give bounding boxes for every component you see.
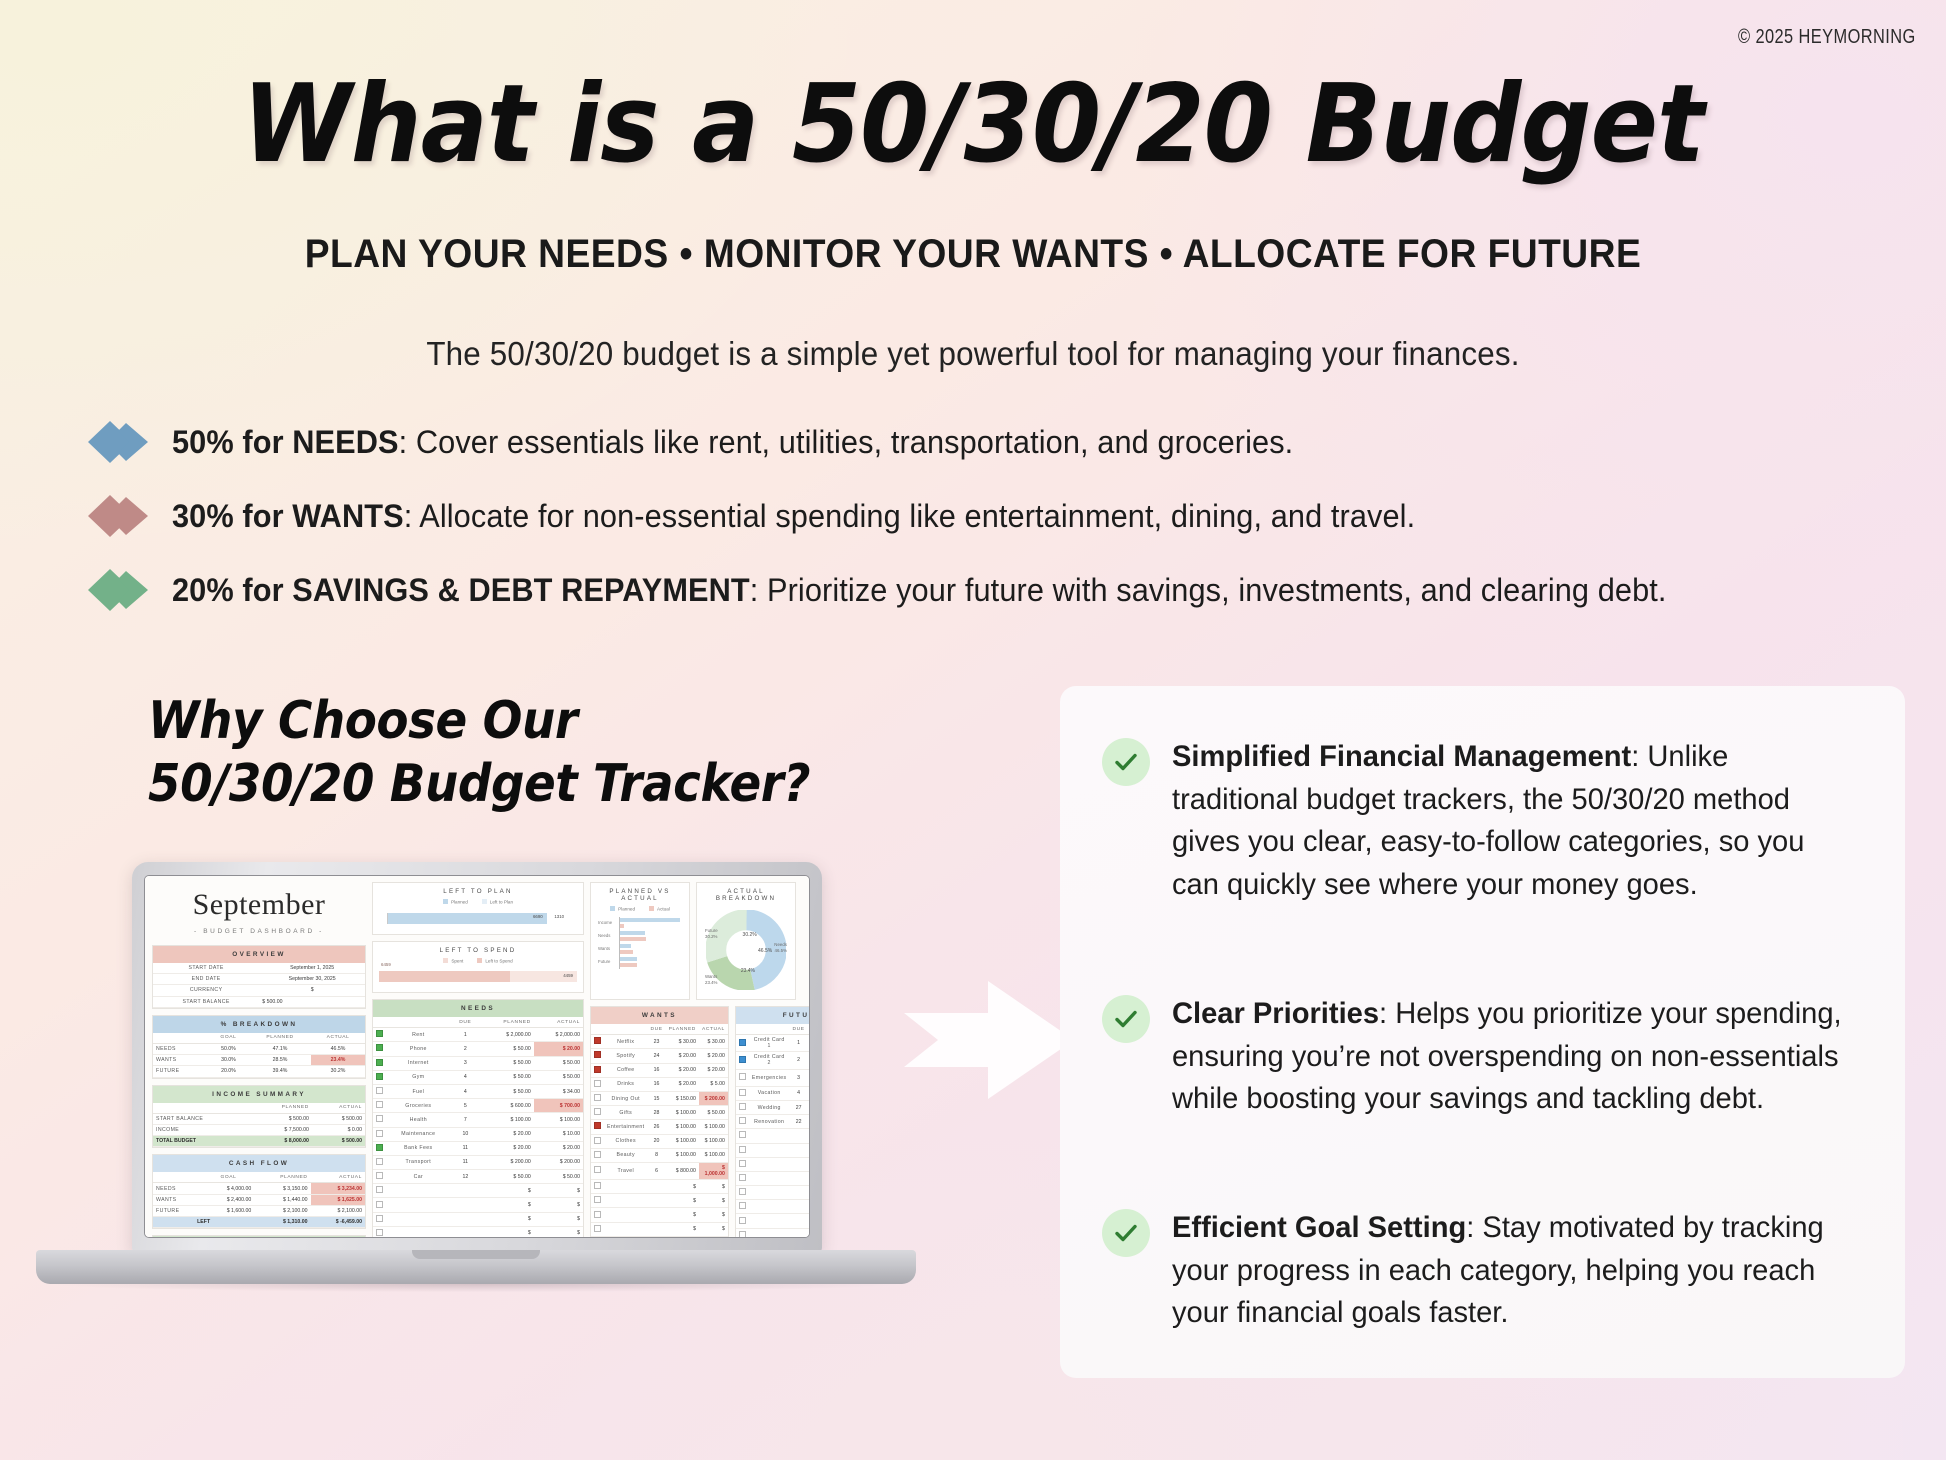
col-header: ACTUAL (312, 1103, 365, 1114)
cell: Netflix (604, 1035, 648, 1049)
table-row[interactable]: Drinks16$ 20.00$ 5.00 (591, 1077, 728, 1091)
table-header-row: GOAL PLANNED ACTUAL (153, 1033, 365, 1044)
chart-title: LEFT TO SPEND (379, 947, 577, 958)
row-checkbox[interactable] (594, 1037, 601, 1044)
cell: 30.0% (208, 1055, 249, 1066)
cell: 16 (648, 1077, 666, 1091)
table-row[interactable]: $$ (736, 1129, 810, 1143)
cell: Groceries (386, 1099, 451, 1113)
row-checkbox[interactable] (739, 1089, 746, 1096)
cell: 1 (451, 1028, 480, 1042)
benefit-text: Clear Priorities: Helps you prioritize y… (1172, 993, 1842, 1121)
overview-panel: OVERVIEW START DATESeptember 1, 2025 END… (152, 945, 366, 1009)
cell: $ 1,000.00 (808, 1069, 810, 1086)
table-row[interactable]: Rent1$ 2,000.00$ 2,000.00 (373, 1028, 583, 1042)
cell: $ 1,310.00 (254, 1217, 310, 1228)
cell: 26 (648, 1120, 666, 1134)
list-item-bold: 50% for NEEDS (172, 424, 399, 460)
row-checkbox[interactable] (376, 1158, 383, 1165)
benefit-item: Simplified Financial Management: Unlike … (1102, 736, 1863, 906)
cell: 2 (451, 1042, 480, 1056)
benefit-title: Simplified Financial Management (1172, 740, 1631, 773)
row-checkbox[interactable] (594, 1151, 601, 1158)
table-row[interactable]: $$ (736, 1186, 810, 1200)
cell: Fuel (386, 1084, 451, 1098)
cell: $ 500.00 (312, 1113, 365, 1124)
bar-row: Needs (620, 930, 683, 943)
laptop-mockup: September - BUDGET DASHBOARD - OVERVIEW … (36, 862, 916, 1362)
cell: Drinks (604, 1077, 648, 1091)
breakdown-table: GOAL PLANNED ACTUAL NEEDS50.0%47.1%46.5%… (153, 1033, 365, 1078)
benefit-title: Clear Priorities (1172, 997, 1379, 1030)
cell: $ 500.00 (259, 996, 365, 1007)
row-checkbox[interactable] (376, 1172, 383, 1179)
table-row[interactable]: Dining Out15$ 150.00$ 200.00 (591, 1091, 728, 1105)
cell: $ 3,150.00 (254, 1183, 310, 1194)
cell: Gifts (604, 1106, 648, 1120)
row-checkbox[interactable] (376, 1044, 383, 1051)
table-row[interactable]: $$ (591, 1236, 728, 1238)
legend-label: Actual (657, 907, 670, 912)
cell: 20.0% (208, 1066, 249, 1077)
cell: $ 200.00 (808, 1052, 810, 1069)
bar-track: 6690 1310 (387, 913, 577, 924)
bar-label: Needs (598, 933, 610, 938)
cell: $ 50.00 (534, 1170, 583, 1184)
table-row[interactable]: Health7$ 100.00$ 100.00 (373, 1113, 583, 1127)
laptop-screen: September - BUDGET DASHBOARD - OVERVIEW … (144, 875, 810, 1238)
cell: Entertainment (604, 1120, 648, 1134)
benefit-item: Efficient Goal Setting: Stay motivated b… (1102, 1207, 1863, 1335)
table-row[interactable]: Netflix23$ 30.00$ 30.00 (591, 1035, 728, 1049)
cell: 8 (648, 1148, 666, 1162)
cell: 10 (451, 1127, 480, 1141)
benefits-card: Simplified Financial Management: Unlike … (1060, 686, 1905, 1378)
cell: $ 50.00 (699, 1106, 728, 1120)
col-header: ACTUAL (699, 1024, 728, 1035)
cell: 47.1% (249, 1043, 311, 1054)
table-row[interactable]: Entertainment26$ 100.00$ 100.00 (591, 1120, 728, 1134)
table-row[interactable]: Credit Card 11$ 500.00$ 500.00 (736, 1035, 810, 1052)
col-header: PLANNED (480, 1017, 534, 1028)
table-row[interactable]: Vacation4$ 200.00$ 200.00 (736, 1086, 810, 1100)
table-row[interactable]: $$ (373, 1198, 583, 1212)
table-row[interactable]: $$ (373, 1212, 583, 1226)
cell: September 1, 2025 (259, 963, 365, 974)
chart-legend: Spent Left to Spend (379, 958, 577, 969)
row-checkbox[interactable] (594, 1108, 601, 1115)
table-row[interactable]: Groceries5$ 600.00$ 700.00 (373, 1099, 583, 1113)
cell: Bank Fees (386, 1141, 451, 1155)
cell: NEEDS (153, 1183, 203, 1194)
bar-value-outside: 1310 (554, 914, 564, 919)
col-header: PLANNED (254, 1172, 310, 1183)
list-item-text: 30% for WANTS: Allocate for non-essentia… (172, 498, 1415, 535)
overview-title: OVERVIEW (153, 946, 365, 963)
table-row: NEEDS$ 4,000.00$ 3,150.00$ 3,234.00 (153, 1183, 365, 1194)
col-header: PLANNED (666, 1024, 699, 1035)
cell: 30.2% (311, 1066, 365, 1077)
cell: $ 50.00 (480, 1170, 534, 1184)
cell: $ 50.00 (534, 1070, 583, 1084)
cell: $ 1,600.00 (203, 1205, 255, 1216)
cell: 6 (648, 1162, 666, 1179)
bar-label: Wants (598, 946, 610, 951)
cell: $ 20.00 (480, 1141, 534, 1155)
dashboard-month: September (152, 882, 366, 922)
needs-title: NEEDS (373, 1000, 583, 1017)
bar-planned: 6690 (388, 913, 547, 924)
legend-label: Planned (618, 907, 635, 912)
donut-chart: Future30.2% Wants23.4% Needs46.5% 30.2% … (703, 906, 789, 992)
table-row[interactable]: Bank Fees11$ 20.00$ 20.00 (373, 1141, 583, 1155)
table-row: FUTURE20.0%39.4%30.2% (153, 1066, 365, 1077)
table-row[interactable]: Clothes20$ 100.00$ 100.00 (591, 1134, 728, 1148)
left-to-spend-chart: LEFT TO SPEND Spent Left to Spend 4459 6… (372, 941, 584, 994)
row-checkbox[interactable] (376, 1059, 383, 1066)
cell: $ 2,100.00 (254, 1205, 310, 1216)
cell: 23.4% (311, 1055, 365, 1066)
col-header: DUE (451, 1017, 480, 1028)
bar-track: 4459 6459 (379, 971, 577, 982)
cell: Coffee (604, 1063, 648, 1077)
col-header: PLANNED (251, 1103, 312, 1114)
table-row[interactable]: $$ (373, 1184, 583, 1198)
cell: $ 20.00 (534, 1042, 583, 1056)
table-row[interactable]: $$ (736, 1157, 810, 1171)
legend-item: Left to Spend (477, 958, 512, 964)
row-checkbox[interactable] (594, 1094, 601, 1101)
future-panel: FUTURE DUE PLANNED ACTUAL Credit Card 11… (735, 1006, 810, 1238)
laptop-base (36, 1250, 916, 1284)
cell: $ 34.00 (534, 1084, 583, 1098)
table-row[interactable]: $$ (591, 1222, 728, 1236)
table-row[interactable]: Wedding27$ 100.00$ 100.00 (736, 1100, 810, 1114)
row-checkbox[interactable] (594, 1051, 601, 1058)
cell: Clothes (604, 1134, 648, 1148)
bar-value: 4459 (563, 973, 573, 978)
cash-flow-title: CASH FLOW (153, 1155, 365, 1172)
cash-flow-panel: CASH FLOW GOAL PLANNED ACTUAL NEEDS$ 4,0… (152, 1154, 366, 1229)
cell: LEFT (153, 1217, 254, 1228)
table-row[interactable]: Maintenance10$ 20.00$ 10.00 (373, 1127, 583, 1141)
cell: CURRENCY (153, 985, 259, 996)
row-checkbox[interactable] (739, 1073, 746, 1080)
dashboard-subtitle: - BUDGET DASHBOARD - (152, 922, 366, 945)
income-panel: INCOME PLANNED ACTUAL Paycheck 1$ 5,000.… (152, 1235, 366, 1238)
cash-flow-table: GOAL PLANNED ACTUAL NEEDS$ 4,000.00$ 3,1… (153, 1172, 365, 1228)
col-header: GOAL (208, 1033, 249, 1044)
planned-vs-actual-chart: PLANNED VS ACTUAL Planned Actual Income … (590, 882, 690, 1000)
diamond-chevron-icon (88, 567, 150, 613)
row-checkbox[interactable] (594, 1166, 601, 1173)
cell: 15 (648, 1091, 666, 1105)
table-row[interactable]: Phone2$ 50.00$ 20.00 (373, 1042, 583, 1056)
cell: Credit Card 2 (749, 1052, 790, 1069)
cell: 11 (451, 1155, 480, 1169)
cell: 23 (648, 1035, 666, 1049)
cell: Internet (386, 1056, 451, 1070)
table-row[interactable]: $$ (736, 1171, 810, 1185)
cell: NEEDS (153, 1043, 208, 1054)
cell: $ 200.00 (480, 1155, 534, 1169)
cell: $ 800.00 (666, 1162, 699, 1179)
bullet-list: 50% for NEEDS: Cover essentials like ren… (88, 405, 1916, 627)
row-checkbox[interactable] (594, 1066, 601, 1073)
table-row: START DATESeptember 1, 2025 (153, 963, 365, 974)
chart-title: ACTUAL BREAKDOWN (703, 888, 789, 906)
income-summary-table: PLANNED ACTUAL START BALANCE$ 500.00$ 50… (153, 1103, 365, 1148)
row-checkbox[interactable] (739, 1056, 746, 1063)
cell: $ 50.00 (480, 1070, 534, 1084)
cell: $ 2,100.00 (311, 1205, 366, 1216)
table-row[interactable]: Gym4$ 50.00$ 50.00 (373, 1070, 583, 1084)
list-item: 50% for NEEDS: Cover essentials like ren… (88, 405, 1916, 479)
table-row[interactable]: Credit Card 22$ 200.00$ 200.00 (736, 1052, 810, 1069)
cell: 12 (451, 1170, 480, 1184)
row-checkbox[interactable] (739, 1039, 746, 1046)
cell: 46.5% (311, 1043, 365, 1054)
row-checkbox[interactable] (376, 1115, 383, 1122)
table-row[interactable]: Coffee16$ 20.00$ 20.00 (591, 1063, 728, 1077)
cell: September 30, 2025 (259, 974, 365, 985)
list-item-bold: 30% for WANTS (172, 498, 404, 534)
page-subtitle: PLAN YOUR NEEDS • MONITOR YOUR WANTS • A… (68, 232, 1878, 277)
list-item-rest: : Prioritize your future with savings, i… (750, 572, 1667, 608)
cell: Maintenance (386, 1127, 451, 1141)
col-header: DUE (648, 1024, 666, 1035)
wants-table: DUE PLANNED ACTUAL Netflix23$ 30.00$ 30.… (591, 1024, 728, 1238)
row-checkbox[interactable] (739, 1103, 746, 1110)
income-summary-title: INCOME SUMMARY (153, 1086, 365, 1103)
row-checkbox[interactable] (594, 1080, 601, 1087)
cell: Credit Card 1 (749, 1035, 790, 1052)
cell: $ 5.00 (699, 1077, 728, 1091)
table-row[interactable]: Car12$ 50.00$ 50.00 (373, 1170, 583, 1184)
diamond-chevron-icon (88, 493, 150, 539)
col-header (153, 1103, 251, 1114)
cell: $ 7,500.00 (251, 1124, 312, 1135)
cell: $ 100.00 (808, 1115, 810, 1129)
cell: $ 600.00 (480, 1099, 534, 1113)
section-heading: Why Choose Our 50/30/20 Budget Tracker? (148, 690, 810, 817)
cell: WANTS (153, 1194, 203, 1205)
donut-slice-pct: 23.4% (741, 968, 755, 974)
donut-slice-pct: 46.5% (758, 948, 772, 954)
row-checkbox[interactable] (376, 1144, 383, 1151)
row-checkbox[interactable] (376, 1030, 383, 1037)
cell: 2 (790, 1052, 808, 1069)
cell: $ 1,000.00 (699, 1162, 728, 1179)
donut-slice-pct: 30.2% (743, 932, 757, 938)
table-row: START BALANCE$ 500.00$ 500.00 (153, 1113, 365, 1124)
table-header-row: DUE PLANNED ACTUAL (373, 1017, 583, 1028)
table-row: END DATESeptember 30, 2025 (153, 974, 365, 985)
list-item-bold: 20% for SAVINGS & DEBT REPAYMENT (172, 572, 750, 608)
cell: $ 30.00 (699, 1035, 728, 1049)
breakdown-title: % BREAKDOWN (153, 1016, 365, 1033)
chart-title: LEFT TO PLAN (379, 888, 577, 899)
cell: $ 50.00 (480, 1056, 534, 1070)
cell: $ 100.00 (699, 1134, 728, 1148)
cell: $ 2,000.00 (480, 1028, 534, 1042)
bar-group: Income Needs Wants Future (619, 917, 683, 969)
legend-item: Planned (443, 899, 468, 905)
donut-label: Future30.2% (705, 928, 718, 939)
cell: Spotify (604, 1049, 648, 1063)
cell: Emergencies (749, 1069, 790, 1086)
row-checkbox[interactable] (376, 1087, 383, 1094)
cell: 4 (790, 1086, 808, 1100)
cell: $ 2,400.00 (203, 1194, 255, 1205)
cell: 20 (648, 1134, 666, 1148)
bar-label: Income (598, 920, 612, 925)
cell: Health (386, 1113, 451, 1127)
bar-value: 6690 (533, 914, 543, 919)
cell: $ 500.00 (808, 1035, 810, 1052)
col-header: DUE (790, 1024, 808, 1035)
table-row[interactable]: $$ (736, 1143, 810, 1157)
table-row[interactable]: Transport11$ 200.00$ 200.00 (373, 1155, 583, 1169)
cell: 1 (790, 1035, 808, 1052)
cell: $ 50.00 (480, 1042, 534, 1056)
intro-paragraph: The 50/30/20 budget is a simple yet powe… (49, 335, 1898, 373)
legend-item: Left to Plan (482, 899, 513, 905)
breakdown-panel: % BREAKDOWN GOAL PLANNED ACTUAL NEEDS50.… (152, 1015, 366, 1079)
table-row: INCOME$ 7,500.00$ 0.00 (153, 1124, 365, 1135)
cell: Beauty (604, 1148, 648, 1162)
table-row[interactable]: $$ (591, 1194, 728, 1208)
col-header: ACTUAL (311, 1172, 366, 1183)
table-row[interactable]: $$ (736, 1228, 810, 1238)
legend-item: Actual (649, 906, 670, 912)
needs-table: DUE PLANNED ACTUAL Rent1$ 2,000.00$ 2,00… (373, 1017, 583, 1238)
cell: 28 (648, 1106, 666, 1120)
page-title: What is a 50/30/20 Budget (78, 68, 1868, 181)
row-checkbox[interactable] (739, 1117, 746, 1124)
cell: START BALANCE (153, 996, 259, 1007)
benefit-text: Simplified Financial Management: Unlike … (1172, 736, 1842, 906)
overview-table: START DATESeptember 1, 2025 END DATESept… (153, 963, 365, 1008)
budget-spreadsheet[interactable]: September - BUDGET DASHBOARD - OVERVIEW … (145, 876, 809, 1237)
table-row[interactable]: Internet3$ 50.00$ 50.00 (373, 1056, 583, 1070)
cell: $ 50.00 (480, 1084, 534, 1098)
list-item-rest: : Cover essentials like rent, utilities,… (399, 424, 1294, 460)
table-row[interactable]: Emergencies3$ 1,000.00$ 1,000.00 (736, 1069, 810, 1086)
cell: $ 100.00 (480, 1113, 534, 1127)
list-item: 20% for SAVINGS & DEBT REPAYMENT: Priori… (88, 553, 1916, 627)
col-header: ACTUAL (534, 1017, 583, 1028)
cell: $ 100.00 (534, 1113, 583, 1127)
cell: 16 (648, 1063, 666, 1077)
copyright-notice: © 2025 HEYMORNING (1738, 26, 1916, 49)
cell: 4 (451, 1084, 480, 1098)
table-row[interactable]: Travel6$ 800.00$ 1,000.00 (591, 1162, 728, 1179)
table-row: START BALANCE$ 500.00 (153, 996, 365, 1007)
table-row[interactable]: Gifts28$ 100.00$ 50.00 (591, 1106, 728, 1120)
col-header (153, 1033, 208, 1044)
future-title: FUTURE (736, 1007, 810, 1024)
cell: INCOME (153, 1124, 251, 1135)
chart-title: PLANNED VS ACTUAL (597, 888, 683, 906)
benefit-title: Efficient Goal Setting (1172, 1211, 1466, 1244)
cell: 28.5% (249, 1055, 311, 1066)
income-summary-panel: INCOME SUMMARY PLANNED ACTUAL START BALA… (152, 1085, 366, 1149)
bar-value-outside: 6459 (381, 962, 391, 967)
cell: $ 20.00 (666, 1063, 699, 1077)
row-checkbox[interactable] (376, 1130, 383, 1137)
table-row: CURRENCY$ (153, 985, 365, 996)
cell: $ 2,000.00 (534, 1028, 583, 1042)
col-header: GOAL (203, 1172, 255, 1183)
cell: 5 (451, 1099, 480, 1113)
cell: Car (386, 1170, 451, 1184)
needs-panel: NEEDS DUE PLANNED ACTUAL Rent1$ 2,000.00… (372, 999, 584, 1238)
cell: $ 100.00 (666, 1106, 699, 1120)
section-heading-line1: Why Choose Our (148, 690, 810, 753)
col-header: ACTUAL (311, 1033, 365, 1044)
cell: 24 (648, 1049, 666, 1063)
table-header-row: PLANNED ACTUAL (153, 1103, 365, 1114)
benefit-item: Clear Priorities: Helps you prioritize y… (1102, 993, 1863, 1121)
bar-row: Income (620, 917, 683, 930)
table-row[interactable]: Fuel4$ 50.00$ 34.00 (373, 1084, 583, 1098)
table-row[interactable]: $$ (373, 1226, 583, 1238)
income-title: INCOME (153, 1236, 365, 1238)
list-item-text: 50% for NEEDS: Cover essentials like ren… (172, 424, 1293, 461)
row-checkbox[interactable] (594, 1137, 601, 1144)
cell: $ 100.00 (699, 1120, 728, 1134)
cell: START BALANCE (153, 1113, 251, 1124)
cell: FUTURE (153, 1205, 203, 1216)
cell: 50.0% (208, 1043, 249, 1054)
table-row[interactable]: $$ (736, 1214, 810, 1228)
table-row[interactable]: $$ (591, 1180, 728, 1194)
cell: $ 20.00 (666, 1077, 699, 1091)
row-checkbox[interactable] (376, 1101, 383, 1108)
cell: WANTS (153, 1055, 208, 1066)
legend-label: Spent (451, 958, 463, 963)
cell: END DATE (153, 974, 259, 985)
cell: $ 100.00 (666, 1134, 699, 1148)
cell: $ 1,625.00 (311, 1194, 366, 1205)
table-row: WANTS30.0%28.5%23.4% (153, 1055, 365, 1066)
table-header-row: GOAL PLANNED ACTUAL (153, 1172, 365, 1183)
cell: $ 20.00 (480, 1127, 534, 1141)
bar-row: Future (620, 956, 683, 969)
wants-title: WANTS (591, 1007, 728, 1024)
bar-row: Wants (620, 943, 683, 956)
table-row[interactable]: Spotify24$ 20.00$ 20.00 (591, 1049, 728, 1063)
table-row[interactable]: $$ (591, 1208, 728, 1222)
cell: $ 1,440.00 (254, 1194, 310, 1205)
table-header-row: DUE PLANNED ACTUAL (591, 1024, 728, 1035)
table-row[interactable]: $$ (736, 1200, 810, 1214)
cell: START DATE (153, 963, 259, 974)
cell: $ 20.00 (699, 1063, 728, 1077)
table-row: NEEDS50.0%47.1%46.5% (153, 1043, 365, 1054)
cell: $ 200.00 (534, 1155, 583, 1169)
row-checkbox[interactable] (376, 1073, 383, 1080)
table-row: FUTURE$ 1,600.00$ 2,100.00$ 2,100.00 (153, 1205, 365, 1216)
row-checkbox[interactable] (594, 1122, 601, 1129)
table-row[interactable]: Renovation22$ 100.00$ 100.00 (736, 1115, 810, 1129)
table-row[interactable]: Beauty8$ 100.00$ 100.00 (591, 1148, 728, 1162)
chart-legend: Planned Actual (597, 906, 683, 917)
table-header-row: DUE PLANNED ACTUAL (736, 1024, 810, 1035)
cell: $ 4,000.00 (203, 1183, 255, 1194)
cell: $ 150.00 (666, 1091, 699, 1105)
